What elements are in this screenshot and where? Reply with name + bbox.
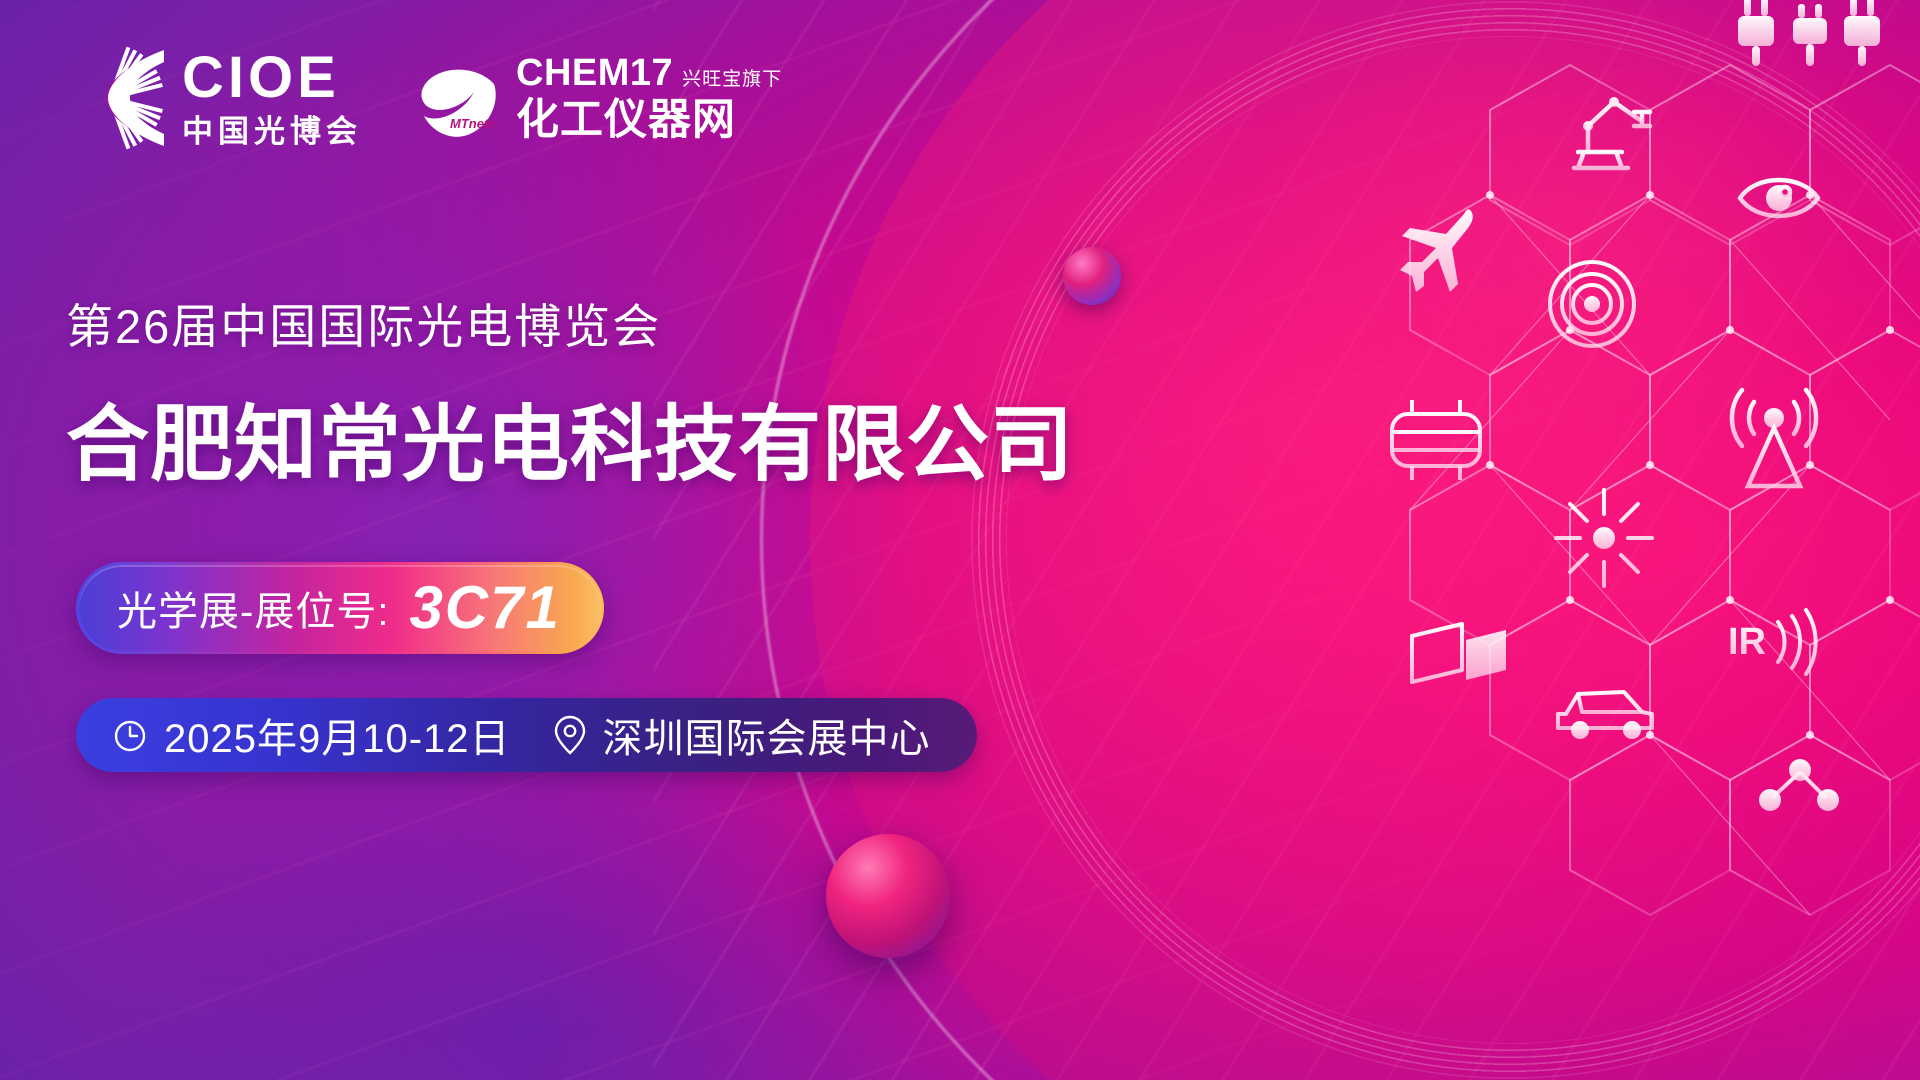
date-item: 2025年9月10-12日 — [110, 706, 511, 764]
chem17-logo: MTnets CHEM17 兴旺宝旗下 化工仪器网 — [408, 54, 782, 142]
cioe-cn-name: 中国光博会 — [182, 116, 362, 147]
chem17-en-name: CHEM17 — [516, 54, 673, 92]
svg-text:MTnets: MTnets — [450, 116, 496, 131]
headline-block: 第26届中国国际光电博览会 合肥知常光电科技有限公司 — [66, 288, 1126, 497]
connector-plugs-icon — [1738, 0, 1880, 66]
bottom-purple-glow — [0, 594, 1152, 1080]
company-name: 合肥知常光电科技有限公司 — [66, 377, 1126, 497]
location-pin-icon — [551, 714, 589, 756]
robot-arm-icon — [1574, 97, 1650, 168]
chem17-affiliation: 兴旺宝旗下 — [682, 70, 782, 92]
hex-node-connectors — [1410, 195, 1920, 915]
date-text: 2025年9月10-12日 — [164, 706, 511, 764]
promo-banner: IR — [0, 0, 1920, 1080]
svg-text:IR: IR — [1728, 621, 1766, 663]
ir-sensor-icon: IR — [1728, 610, 1816, 674]
hex-grid-lines — [1410, 65, 1920, 915]
booth-number: 3C71 — [409, 578, 560, 638]
chem17-wordmark: CHEM17 兴旺宝旗下 化工仪器网 — [516, 54, 782, 142]
cioe-logo: CIOE 中国光博会 — [62, 46, 362, 150]
hex-nodes — [1486, 191, 1894, 739]
booth-badge-inner: 光学展-展位号: 3C71 — [79, 565, 601, 651]
cioe-en-name: CIOE — [182, 49, 362, 107]
cioe-wordmark: CIOE 中国光博会 — [182, 49, 362, 147]
chem17-cn-name: 化工仪器网 — [516, 99, 782, 142]
cioe-fan-mark-icon — [62, 46, 166, 150]
booth-label: 光学展-展位号: — [117, 579, 389, 637]
logo-row: CIOE 中国光博会 MTnets CHEM17 兴旺宝旗下 化工仪器网 — [62, 46, 782, 150]
booth-badge: 光学展-展位号: 3C71 — [76, 562, 604, 654]
venue-text: 深圳国际会展中心 — [603, 706, 931, 764]
left-purple-glow — [0, 0, 1114, 1080]
network-node-icon — [1759, 759, 1839, 811]
display-screens-icon — [1412, 624, 1506, 682]
event-title: 第26届中国国际光电博览会 — [66, 288, 1126, 357]
venue-item: 深圳国际会展中心 — [551, 706, 931, 764]
chem17-globe-mark-icon: MTnets — [408, 54, 502, 142]
hexagon-network-svg: IR — [1280, 0, 1920, 1080]
hexagon-network-panel: IR — [1280, 0, 1920, 1080]
lens-target-icon — [1550, 262, 1634, 346]
sphere-large-icon — [826, 834, 950, 958]
clock-icon — [110, 715, 150, 755]
car-icon — [1558, 692, 1652, 739]
info-bar: 2025年9月10-12日 深圳国际会展中心 — [76, 698, 977, 772]
laser-burst-icon — [1556, 490, 1652, 586]
vr-headset-icon — [1392, 400, 1480, 480]
